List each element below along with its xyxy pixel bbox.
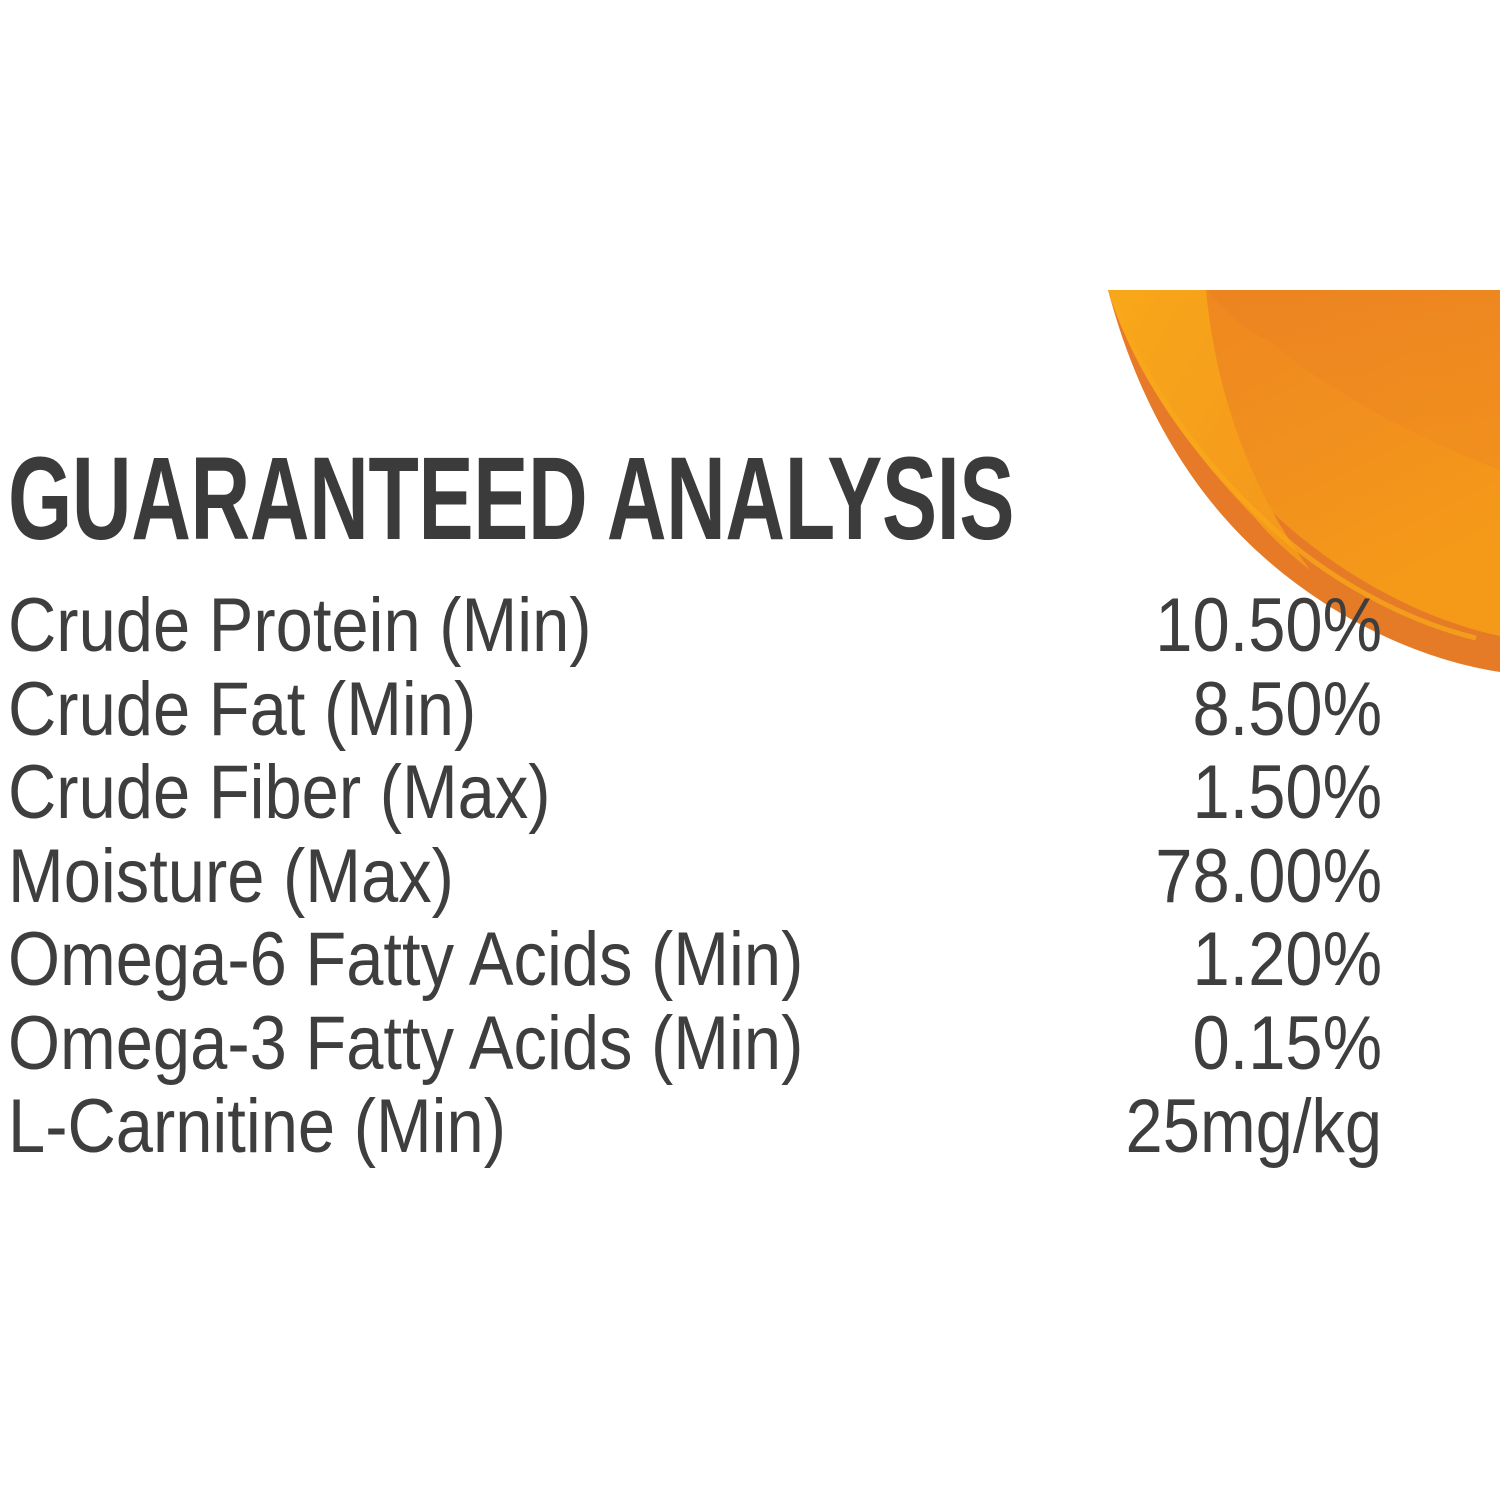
nutrient-label: Moisture (Max): [8, 835, 922, 919]
nutrient-value: 25mg/kg: [1087, 1085, 1382, 1169]
nutrient-label: Crude Fiber (Max): [8, 751, 922, 835]
nutrient-label: Omega-3 Fatty Acids (Min): [8, 1002, 922, 1086]
nutrient-value: 78.00%: [1087, 835, 1382, 919]
nutrient-label: Crude Fat (Min): [8, 668, 922, 752]
nutrient-value: 1.20%: [1087, 918, 1382, 1002]
table-row: Crude Protein (Min) 10.50%: [8, 584, 1382, 668]
nutrient-value: 10.50%: [1087, 584, 1382, 668]
table-row: Omega-3 Fatty Acids (Min) 0.15%: [8, 1002, 1382, 1086]
table-row: Crude Fat (Min) 8.50%: [8, 668, 1382, 752]
page-title: GUARANTEED ANALYSIS: [8, 440, 970, 558]
guaranteed-analysis-label: GUARANTEED ANALYSIS Crude Protein (Min) …: [0, 0, 1500, 1500]
guaranteed-analysis-table: Crude Protein (Min) 10.50% Crude Fat (Mi…: [8, 584, 1382, 1169]
table-row: Crude Fiber (Max) 1.50%: [8, 751, 1382, 835]
nutrient-value: 0.15%: [1087, 1002, 1382, 1086]
guaranteed-analysis-panel: GUARANTEED ANALYSIS Crude Protein (Min) …: [8, 440, 1382, 1169]
table-row: Moisture (Max) 78.00%: [8, 835, 1382, 919]
nutrient-label: L-Carnitine (Min): [8, 1085, 922, 1169]
nutrient-value: 1.50%: [1087, 751, 1382, 835]
table-row: Omega-6 Fatty Acids (Min) 1.20%: [8, 918, 1382, 1002]
nutrient-value: 8.50%: [1087, 668, 1382, 752]
nutrient-label: Omega-6 Fatty Acids (Min): [8, 918, 922, 1002]
nutrient-label: Crude Protein (Min): [8, 584, 922, 668]
table-row: L-Carnitine (Min) 25mg/kg: [8, 1085, 1382, 1169]
